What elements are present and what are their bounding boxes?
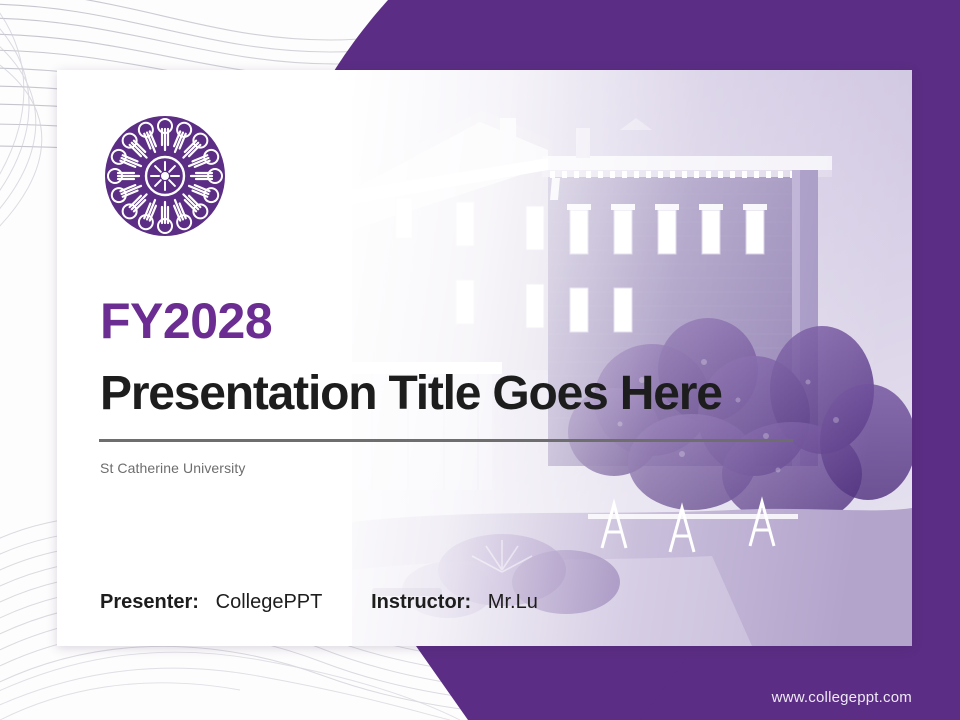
presenter-label: Presenter:	[100, 591, 199, 613]
organization-name: St Catherine University	[100, 460, 245, 476]
instructor-name: Mr.Lu	[488, 591, 538, 613]
title-divider	[99, 439, 793, 442]
presentation-slide: FY2028 Presentation Title Goes Here St C…	[0, 0, 960, 720]
page-title: Presentation Title Goes Here	[100, 370, 722, 418]
footer-website-url[interactable]: www.collegeppt.com	[772, 689, 912, 706]
university-rose-window-seal-icon	[101, 112, 229, 240]
presenter-name: CollegePPT	[216, 591, 322, 613]
fiscal-year-heading: FY2028	[100, 296, 272, 346]
credits-row: Presenter: CollegePPT Instructor: Mr.Lu	[100, 591, 538, 614]
slide-content-card: FY2028 Presentation Title Goes Here St C…	[57, 70, 912, 646]
instructor-label: Instructor:	[371, 591, 471, 613]
